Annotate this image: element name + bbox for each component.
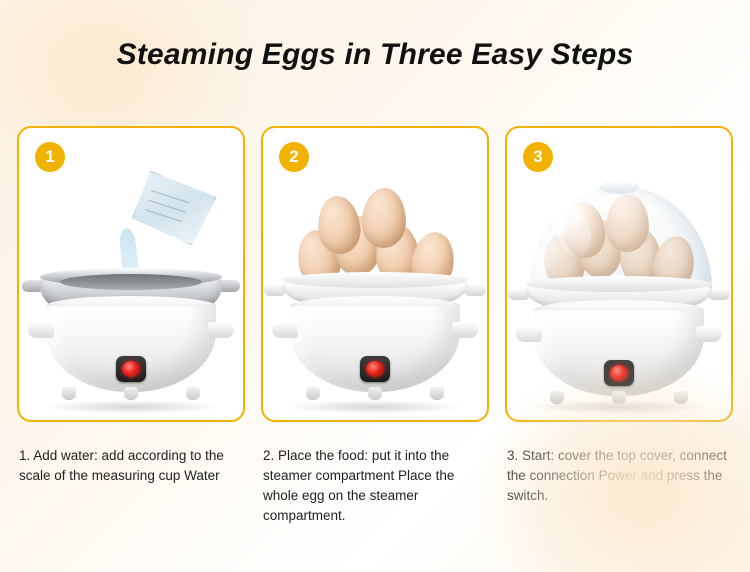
cooker-foot [550, 391, 564, 404]
step-illustration-3 [507, 128, 731, 420]
page-title: Steaming Eggs in Three Easy Steps [0, 38, 750, 72]
step-panel-1: 1 [17, 126, 245, 422]
cooker-foot [612, 391, 626, 404]
cooker-foot [124, 387, 138, 400]
dome-lid-knob[interactable] [599, 180, 639, 194]
cooker-handle-right [696, 326, 722, 342]
step-panel-2: 2 [261, 126, 489, 422]
cooker-foot [368, 387, 382, 400]
cooker-handle-left [516, 326, 542, 342]
power-switch[interactable] [116, 356, 146, 382]
stainless-steel-inner-basin [60, 274, 202, 290]
step-panel-3: 3 [505, 126, 733, 422]
egg-cooker-step-3 [534, 148, 704, 408]
power-switch[interactable] [604, 360, 634, 386]
poster-root: Steaming Eggs in Three Easy Steps 1 [0, 0, 750, 572]
cooker-handle-right [452, 322, 478, 338]
step-illustration-2 [263, 128, 487, 420]
step-caption-3: 3. Start: cover the top cover, connect t… [507, 446, 731, 506]
cooker-foot [62, 387, 76, 400]
step-badge-3: 3 [523, 142, 553, 172]
power-indicator-light-icon [122, 361, 140, 377]
cooker-foot [430, 387, 444, 400]
step-caption-1: 1. Add water: add according to the scale… [19, 446, 243, 486]
steamer-tray-rim [282, 272, 468, 288]
power-indicator-light-icon [610, 365, 628, 381]
cooker-handle-left [272, 322, 298, 338]
cooker-handle-right [208, 322, 234, 338]
step-caption-2: 2. Place the food: put it into the steam… [263, 446, 487, 526]
cooker-foot [306, 387, 320, 400]
power-indicator-light-icon [366, 361, 384, 377]
cooker-foot [186, 387, 200, 400]
step-badge-1: 1 [35, 142, 65, 172]
egg-cooker-step-2 [290, 154, 460, 404]
step-badge-2: 2 [279, 142, 309, 172]
egg [361, 187, 407, 248]
cooker-handle-left [28, 322, 54, 338]
power-switch[interactable] [360, 356, 390, 382]
steamer-tray-rim [526, 276, 712, 292]
cooker-foot [674, 391, 688, 404]
step-illustration-1 [19, 128, 243, 420]
egg-cooker-step-1 [46, 194, 216, 404]
